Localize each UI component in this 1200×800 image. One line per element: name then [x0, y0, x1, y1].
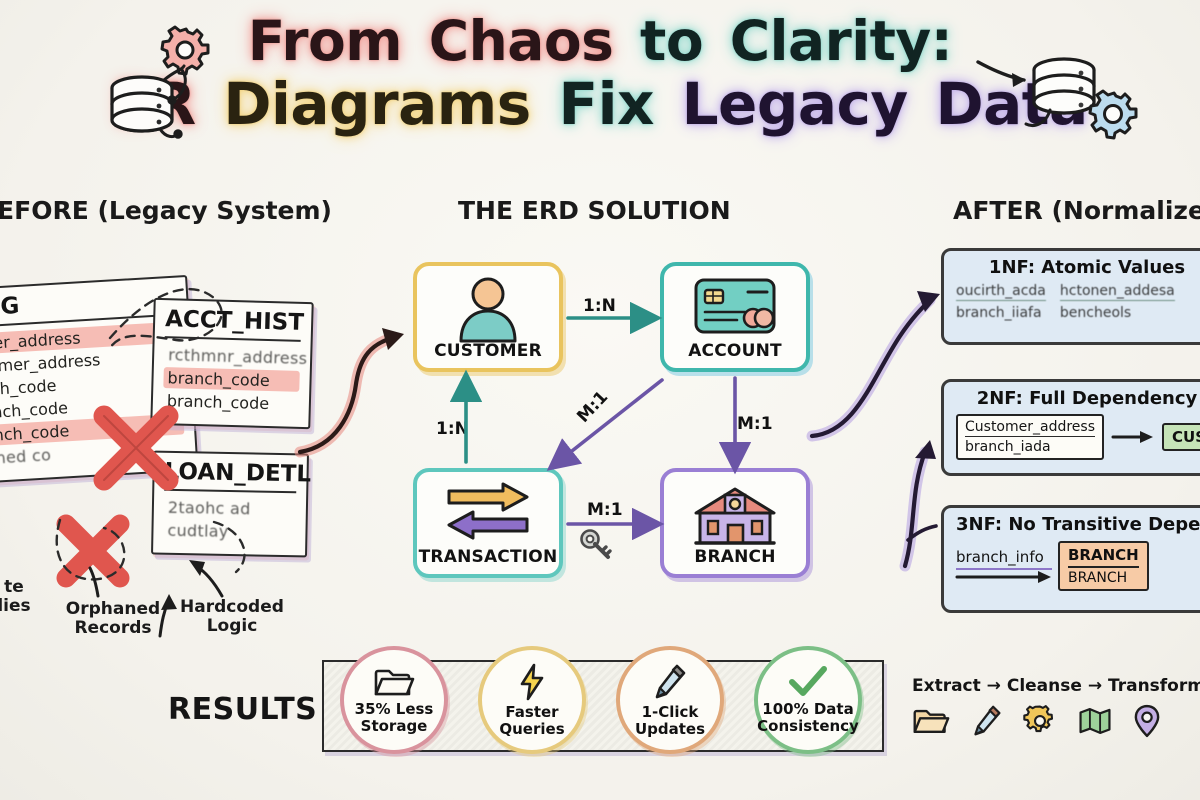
legacy-table-card[interactable]: ACCT_HIST rcthmnr_address branch_code br… [150, 298, 313, 429]
title-word-from: From [244, 14, 406, 69]
normal-form-title: 2NF: Full Dependency [956, 388, 1200, 409]
legacy-field-row: branch_code [163, 390, 300, 415]
cardinality-label-m1: M:1 [737, 414, 773, 434]
erd-entity-label: TRANSACTION [417, 547, 559, 567]
etl-pipeline-icons [912, 704, 1200, 738]
nf-field: hctonen_addesa [1060, 283, 1175, 301]
nf-table-key: Customer_address [965, 419, 1095, 437]
erd-entity-label: ACCOUNT [664, 341, 806, 361]
database-gear-icon [1020, 48, 1150, 158]
normal-form-title: 1NF: Atomic Values [956, 257, 1200, 278]
title-word-clarity: Clarity: [726, 14, 956, 69]
label-pointer-arrows [90, 566, 222, 596]
erd-entity-customer[interactable]: CUSTOMER [413, 262, 563, 372]
erd-entity-branch[interactable]: BRANCH [660, 468, 810, 578]
arrow-erd-to-3nf [908, 526, 936, 540]
normal-form-box-3nf[interactable]: 3NF: No Transitive Dependency branch_inf… [941, 505, 1200, 613]
nf-table-value: BRANCH [1068, 570, 1139, 586]
legacy-field-row: cudtlay [163, 520, 295, 544]
nf-field: oucirth_acda [956, 283, 1046, 301]
cardinality-label-1n: 1:N [436, 419, 469, 439]
arrow-erd-to-2nf [905, 440, 936, 566]
red-x-icon [52, 510, 134, 592]
person-icon [455, 275, 521, 343]
cardinality-label-1n: 1:N [583, 296, 616, 316]
legacy-table-title: LOAN_DETL [164, 459, 297, 494]
erd-entity-label: CUSTOMER [417, 341, 559, 361]
folder-icon [912, 706, 950, 736]
result-badge-consistency[interactable]: 100% Data Consistency [754, 646, 862, 754]
title-word-fix: Fix [554, 75, 657, 133]
map-icon [1078, 706, 1112, 736]
bank-building-icon [692, 481, 778, 547]
result-badge-text: 35% Less Storage [355, 701, 434, 734]
arrow-right-icon [956, 570, 1052, 584]
section-header-center: THE ERD SOLUTION [458, 196, 731, 225]
nf-target-table: BRANCH BRANCH [1058, 541, 1149, 591]
results-label: RESULTS [168, 692, 317, 727]
title-word-legacy: Legacy [678, 75, 912, 133]
pen-icon [653, 663, 687, 701]
section-header-center-text: THE ERD SOLUTION [458, 196, 731, 225]
result-badge-text: 1-Click Updates [635, 704, 705, 737]
legacy-field-row: 2taohc ad [164, 497, 296, 521]
nf-table-value: branch_iada [965, 439, 1095, 455]
section-header-before: BEFORE (Legacy System) [0, 196, 332, 225]
infographic-canvas: From Chaos to Clarity: ER Diagrams Fix L… [0, 0, 1200, 800]
erd-entity-account[interactable]: ACCOUNT [660, 262, 810, 372]
arrow-before-to-erd [300, 328, 404, 452]
title-word-to: to [636, 14, 707, 69]
etl-pipeline: Extract → Cleanse → Transform → M [912, 676, 1200, 738]
title-word-diagrams: Diagrams [219, 75, 534, 133]
label-hardcoded-logic: Hardcoded Logic [168, 598, 296, 636]
cardinality-label-m1: M:1 [587, 500, 623, 520]
nf-field: branch_iiafa [956, 305, 1046, 322]
credit-card-icon [693, 275, 777, 337]
checkmark-icon [788, 666, 828, 698]
legacy-table-card[interactable]: LOAN_DETL 2taohc ad cudtlay [151, 451, 309, 558]
etl-pipeline-text: Extract → Cleanse → Transform → M [912, 676, 1200, 696]
legacy-field-row: rcthmnr_address [164, 344, 301, 369]
legacy-field-row: branch_code [163, 367, 300, 392]
folder-icon [373, 666, 415, 698]
legacy-table-title: ACCT_HIST [165, 306, 302, 342]
normal-form-title: 3NF: No Transitive Dependency [956, 514, 1200, 535]
label-orphaned-records: Orphaned Records [52, 600, 174, 638]
exchange-arrows-icon [443, 481, 533, 545]
erd-arrow-account-transaction [558, 380, 662, 462]
lightning-icon [518, 663, 546, 701]
result-badge-storage[interactable]: 35% Less Storage [340, 646, 448, 754]
nf-field: branch_info [956, 548, 1052, 570]
cardinality-label-m1: M:1 [573, 387, 612, 427]
erd-entity-transaction[interactable]: TRANSACTION [413, 468, 563, 578]
section-header-before-text: BEFORE (Legacy System) [0, 196, 332, 225]
title-word-chaos: Chaos [425, 14, 618, 69]
normal-form-box-2nf[interactable]: 2NF: Full Dependency Customer_address br… [941, 379, 1200, 476]
section-header-after: AFTER (Normalized) [953, 196, 1200, 225]
section-header-after-text: AFTER (Normalized) [953, 196, 1200, 225]
nf-field: bencheols [1060, 305, 1175, 322]
arrow-right-icon [1112, 430, 1154, 444]
gear-icon [1024, 705, 1056, 737]
nf-target-table: CUSTOMER [1162, 423, 1200, 451]
pen-icon [972, 704, 1002, 738]
legacy-table-title: _LOG [0, 284, 177, 329]
result-badge-text: 100% Data Consistency [757, 701, 859, 734]
key-icon [580, 528, 616, 562]
label-pointer-arrowhead [189, 560, 205, 576]
normal-form-box-1nf[interactable]: 1NF: Atomic Values oucirth_acda branch_i… [941, 248, 1200, 345]
nf-table-key: BRANCH [1068, 546, 1139, 568]
erd-entity-label: BRANCH [664, 547, 806, 567]
arrow-erd-to-1nf [812, 291, 940, 436]
database-gear-icon [104, 26, 222, 156]
result-badge-updates[interactable]: 1-Click Updates [616, 646, 724, 754]
result-badge-text: Faster Queries [499, 704, 564, 737]
result-badge-queries[interactable]: Faster Queries [478, 646, 586, 754]
location-pin-icon [1134, 704, 1160, 738]
nf-source-table: Customer_address branch_iada [956, 414, 1104, 460]
